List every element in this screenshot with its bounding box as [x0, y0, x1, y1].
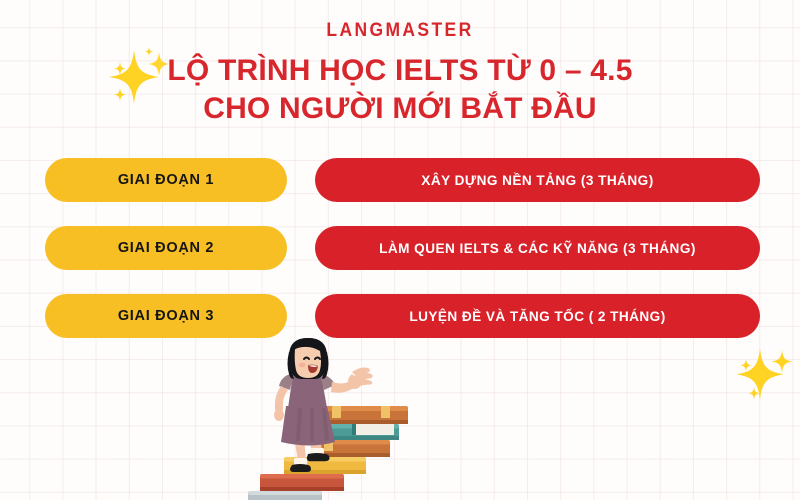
task-pill-2[interactable]: LÀM QUEN IELTS & CÁC KỸ NĂNG (3 THÁNG) [315, 226, 760, 270]
stage-pill-2[interactable]: GIAI ĐOẠN 2 [45, 226, 287, 270]
task-label: XÂY DỰNG NỀN TẢNG (3 THÁNG) [421, 173, 653, 188]
stage-label: GIAI ĐOẠN 3 [118, 308, 214, 324]
book-grey [248, 491, 322, 500]
roadmap-row: GIAI ĐOẠN 1 XÂY DỰNG NỀN TẢNG (3 THÁNG) [0, 158, 800, 202]
book-red [260, 474, 344, 491]
langmaster-logo: LANGMASTER [32, 20, 768, 42]
task-pill-1[interactable]: XÂY DỰNG NỀN TẢNG (3 THÁNG) [315, 158, 760, 202]
sparkle-icon-right [724, 342, 800, 412]
stage-label: GIAI ĐOẠN 2 [118, 240, 214, 256]
stage-pill-1[interactable]: GIAI ĐOẠN 1 [45, 158, 287, 202]
girl-climbing-books-illustration [248, 332, 418, 500]
task-label: LUYỆN ĐỀ VÀ TĂNG TỐC ( 2 THÁNG) [409, 309, 665, 324]
sparkle-icon-left [100, 42, 180, 118]
stage-label: GIAI ĐOẠN 1 [118, 172, 214, 188]
book-top [324, 406, 408, 424]
roadmap-row: GIAI ĐOẠN 2 LÀM QUEN IELTS & CÁC KỸ NĂNG… [0, 226, 800, 270]
waving-hand [348, 368, 373, 390]
task-label: LÀM QUEN IELTS & CÁC KỸ NĂNG (3 THÁNG) [379, 241, 696, 256]
poster-canvas: LANGMASTER LỘ TRÌNH HỌC IELTS TỪ 0 – 4.5… [0, 0, 800, 500]
